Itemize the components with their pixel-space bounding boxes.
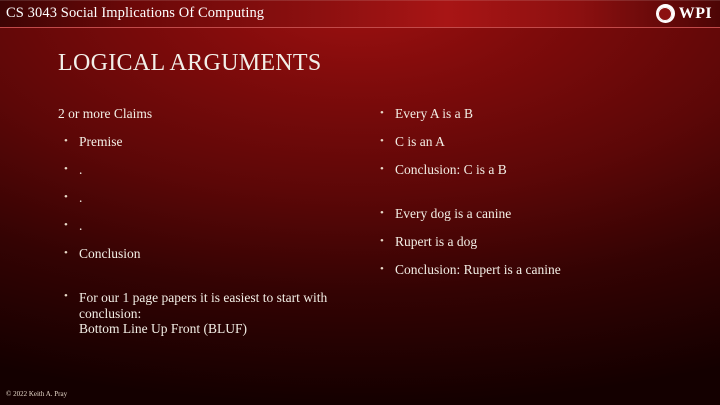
list-item: . xyxy=(58,162,358,178)
wpi-wordmark: WPI xyxy=(679,4,712,23)
list-item: 2 or more Claims xyxy=(58,106,358,122)
page-title: LOGICAL ARGUMENTS xyxy=(58,48,322,78)
list-item: Conclusion: C is a B xyxy=(374,162,674,178)
list-item: C is an A xyxy=(374,134,674,150)
slide-header-bar: CS 3043 Social Implications Of Computing… xyxy=(0,0,720,28)
wpi-logo: WPI xyxy=(656,3,712,24)
course-title: CS 3043 Social Implications Of Computing xyxy=(6,4,264,23)
right-content-column: Every A is a B C is an A Conclusion: C i… xyxy=(374,106,674,290)
list-item: Conclusion: Rupert is a canine xyxy=(374,262,674,278)
list-item: Every A is a B xyxy=(374,106,674,122)
copyright-footer: © 2022 Keith A. Pray xyxy=(6,390,67,399)
list-item: For our 1 page papers it is easiest to s… xyxy=(58,290,358,337)
wpi-seal-inner-icon xyxy=(661,9,670,19)
list-item: Every dog is a canine xyxy=(374,206,674,222)
list-item: Rupert is a dog xyxy=(374,234,674,250)
list-item: Premise xyxy=(58,134,358,150)
wpi-seal-icon xyxy=(656,4,675,23)
list-spacer xyxy=(374,190,674,206)
list-item: . xyxy=(58,190,358,206)
list-item: Conclusion xyxy=(58,246,358,262)
list-item: . xyxy=(58,218,358,234)
slide-canvas: CS 3043 Social Implications Of Computing… xyxy=(0,0,720,405)
left-content-column: 2 or more Claims Premise . . . Conclusio… xyxy=(58,106,358,349)
list-spacer xyxy=(58,274,358,290)
